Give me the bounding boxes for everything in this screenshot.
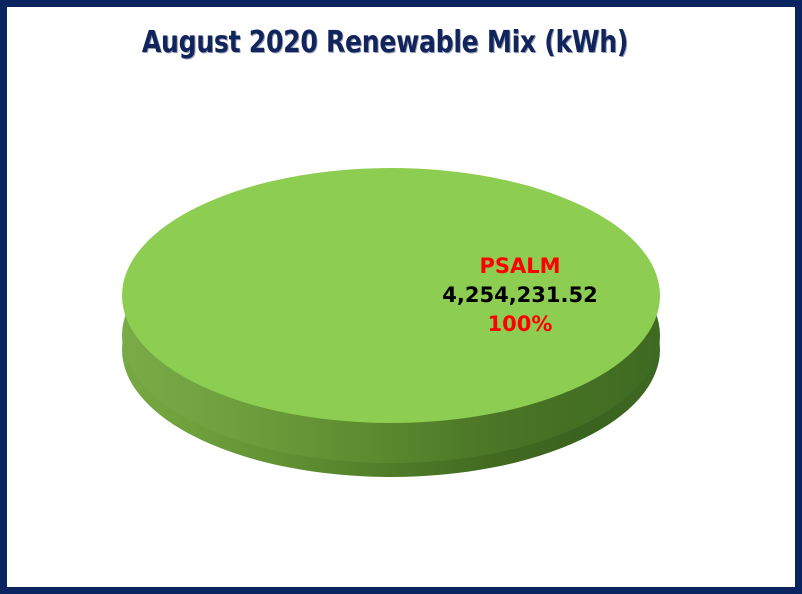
chart-frame: August 2020 Renewable Mix (kWh) PSALM 4,… bbox=[0, 0, 802, 594]
chart-title: August 2020 Renewable Mix (kWh) bbox=[27, 25, 743, 61]
frame-border-left bbox=[0, 0, 7, 594]
pie-chart-3d: PSALM 4,254,231.52 100% bbox=[122, 168, 660, 477]
pie-slice-psalm-top[interactable] bbox=[122, 168, 660, 423]
frame-border-right bbox=[795, 0, 802, 594]
frame-border-bottom bbox=[0, 587, 802, 594]
frame-border-top bbox=[0, 0, 802, 7]
